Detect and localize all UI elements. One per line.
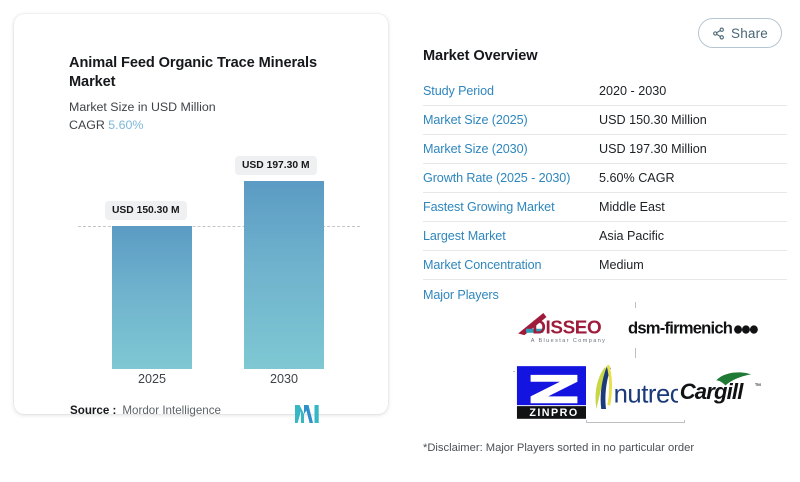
bar-2030[interactable]: [244, 181, 324, 369]
x-tick-2030: 2030: [244, 372, 324, 386]
share-nodes-icon: [712, 27, 725, 40]
nutreco-logo[interactable]: nutreco: [586, 358, 685, 420]
disclaimer-text: *Disclaimer: Major Players sorted in no …: [423, 442, 694, 454]
chart-card: Animal Feed Organic Trace Minerals Marke…: [14, 14, 388, 414]
row-value: Middle East: [599, 200, 665, 214]
svg-text:DISSEO: DISSEO: [532, 318, 601, 339]
x-tick-2025: 2025: [112, 372, 192, 386]
chart-source-label: Source :: [70, 404, 116, 417]
row-value: Asia Pacific: [599, 229, 664, 243]
adisseo-logo[interactable]: DISSEO A Bluestar Company: [515, 308, 633, 348]
svg-text:Cargill: Cargill: [680, 379, 745, 404]
market-snapshot-page: Share Animal Feed Organic Trace Minerals…: [0, 0, 800, 482]
bar-2025[interactable]: [112, 226, 192, 369]
dsm-firmenich-logo-mark: dsm-firmenich: [628, 312, 761, 344]
chart-title: Animal Feed Organic Trace Minerals Marke…: [69, 54, 337, 93]
chart-cagr-value: 5.60%: [108, 118, 143, 132]
dsm-firmenich-logo[interactable]: dsm-firmenich: [628, 308, 761, 348]
row-key: Fastest Growing Market: [423, 200, 599, 214]
table-row: Largest Market Asia Pacific: [423, 222, 787, 251]
row-key: Market Size (2030): [423, 142, 599, 156]
chart-cagr: CAGR 5.60%: [69, 118, 143, 132]
share-button-label: Share: [731, 26, 768, 41]
row-key: Growth Rate (2025 - 2030): [423, 171, 599, 185]
row-value: USD 197.30 Million: [599, 142, 707, 156]
table-row: Study Period 2020 - 2030: [423, 77, 787, 106]
market-overview-panel: Market Overview Study Period 2020 - 2030…: [423, 48, 787, 309]
row-key: Study Period: [423, 84, 599, 98]
chart-cagr-label: CAGR: [69, 118, 105, 132]
row-key: Market Size (2025): [423, 113, 599, 127]
table-row: Fastest Growing Market Middle East: [423, 193, 787, 222]
row-value: Medium: [599, 258, 644, 272]
table-row: Market Size (2025) USD 150.30 Million: [423, 106, 787, 135]
market-overview-title: Market Overview: [423, 48, 787, 64]
table-row: Growth Rate (2025 - 2030) 5.60% CAGR: [423, 164, 787, 193]
table-row: Market Size (2030) USD 197.30 Million: [423, 135, 787, 164]
bar-label-2025: USD 150.30 M: [105, 201, 187, 220]
row-value: USD 150.30 Million: [599, 113, 707, 127]
cargill-logo-mark: Cargill ™: [678, 368, 763, 408]
mordor-intelligence-logo: [295, 405, 321, 423]
svg-text:™: ™: [755, 383, 762, 390]
row-value: 2020 - 2030: [599, 84, 666, 98]
svg-text:A Bluestar Company: A Bluestar Company: [531, 338, 607, 344]
chart-source-value: Mordor Intelligence: [122, 404, 221, 417]
nutreco-logo-mark: nutreco: [586, 360, 685, 418]
row-value: 5.60% CAGR: [599, 171, 675, 185]
chart-source: Source : Mordor Intelligence: [70, 404, 370, 417]
bar-label-2030: USD 197.30 M: [235, 156, 317, 175]
row-key: Market Concentration: [423, 258, 599, 272]
svg-text:ZINPRO: ZINPRO: [529, 407, 578, 419]
row-key: Largest Market: [423, 229, 599, 243]
share-button[interactable]: Share: [698, 18, 782, 48]
table-row: Market Concentration Medium: [423, 251, 787, 280]
svg-text:dsm-firmenich: dsm-firmenich: [628, 319, 733, 338]
adisseo-logo-mark: DISSEO A Bluestar Company: [515, 308, 633, 348]
svg-text:nutreco: nutreco: [614, 380, 685, 408]
chart-subtitle: Market Size in USD Million: [69, 100, 216, 114]
zinpro-logo-mark: ZINPRO: [515, 364, 593, 419]
major-players-logos: DISSEO A Bluestar Company dsm-firmenich …: [423, 300, 787, 425]
bar-chart-plot: USD 150.30 M USD 197.30 M 2025 2030: [54, 144, 374, 369]
cargill-logo[interactable]: Cargill ™: [678, 364, 763, 412]
zinpro-logo[interactable]: ZINPRO: [515, 364, 593, 419]
